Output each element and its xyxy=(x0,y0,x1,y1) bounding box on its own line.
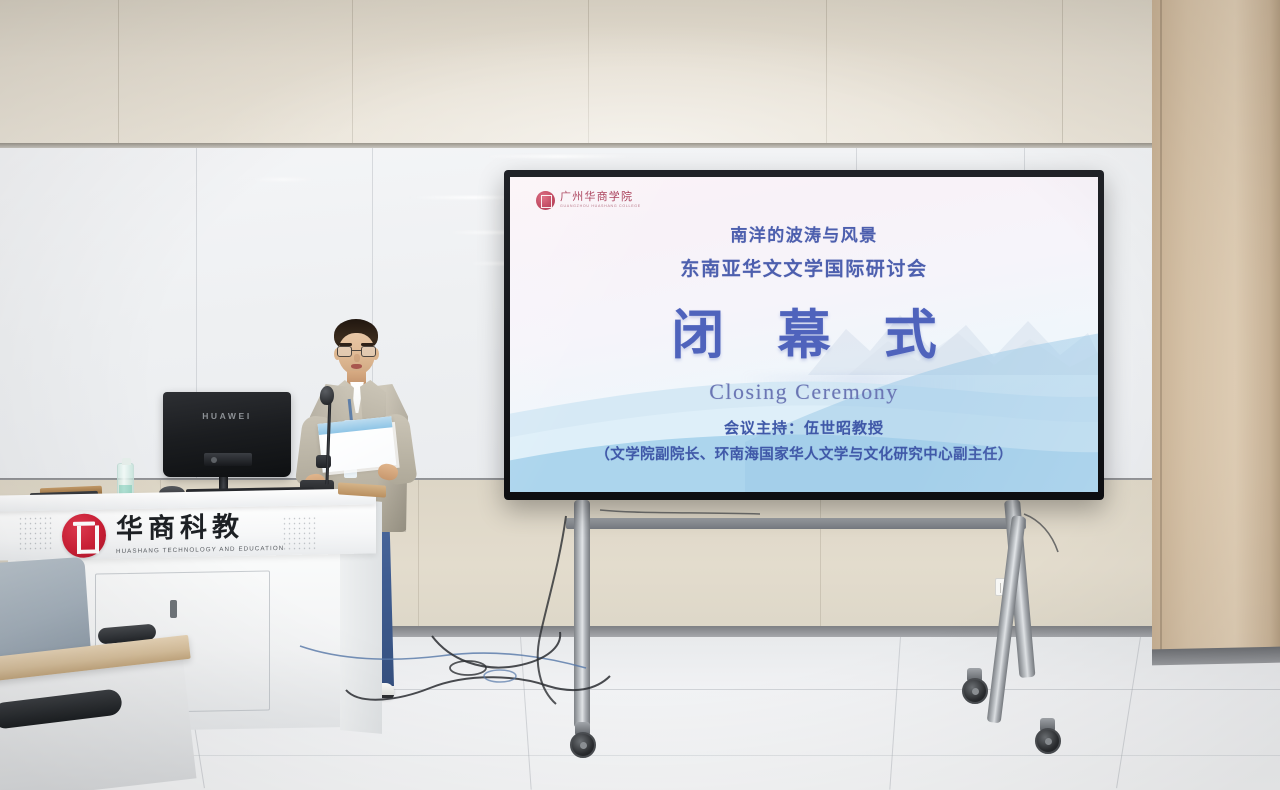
presentation-slide: 广州华商学院 GUANGZHOU HUASHANG COLLEGE 南洋的波涛与… xyxy=(510,177,1098,492)
display-screen[interactable]: 广州华商学院 GUANGZHOU HUASHANG COLLEGE 南洋的波涛与… xyxy=(504,170,1104,500)
huashang-seal-icon xyxy=(62,513,106,558)
tv-cart-caster xyxy=(962,678,988,704)
monitor-connector-hub xyxy=(204,453,252,466)
podium-brand-plate: 华商科教 HUASHANG TECHNOLOGY AND EDUCATION xyxy=(62,510,284,558)
slide-logo-en: GUANGZHOU HUASHANG COLLEGE xyxy=(560,205,641,209)
tv-cart-caster xyxy=(570,732,596,758)
slide-university-logo: 广州华商学院 GUANGZHOU HUASHANG COLLEGE xyxy=(536,191,641,210)
podium-brand-cn: 华商科教 xyxy=(116,512,284,542)
podium-speaker-grille-left xyxy=(18,516,52,553)
slide-host-role: （文学院副院长、环南海国家华人文学与文化研究中心副主任） xyxy=(510,443,1098,464)
pilaster-edge xyxy=(1160,0,1162,660)
slide-title-line1: 南洋的波涛与风景 xyxy=(510,221,1098,246)
upper-wall-sheen xyxy=(0,0,1280,148)
podium-cabinet-lock xyxy=(170,600,177,618)
tv-cart-caster xyxy=(1035,728,1061,754)
slide-headline-english: Closing Ceremony xyxy=(510,379,1098,405)
slide-headline: 闭 幕 式 xyxy=(510,293,1098,369)
tv-cart-leg-left xyxy=(574,500,590,728)
conference-room-photo: 广州华商学院 GUANGZHOU HUASHANG COLLEGE 南洋的波涛与… xyxy=(0,0,1280,790)
light-reflection-streak xyxy=(252,178,314,181)
presenter-mouth xyxy=(351,364,362,369)
wall-pilaster xyxy=(1152,0,1280,660)
slide-logo-cn: 广州华商学院 xyxy=(560,192,641,203)
light-reflection-streak xyxy=(482,155,634,158)
pilaster-baseboard xyxy=(1152,647,1280,666)
podium-speaker-grille-right xyxy=(282,516,316,553)
huawei-monitor: HUAWEI xyxy=(163,392,291,477)
presenter-glasses xyxy=(337,346,376,357)
podium-brand-en: HUASHANG TECHNOLOGY AND EDUCATION xyxy=(116,544,284,554)
monitor-brand-label: HUAWEI xyxy=(163,411,291,421)
slide-title-line2: 东南亚华文文学国际研讨会 xyxy=(510,254,1098,281)
university-seal-icon xyxy=(536,191,555,210)
tv-cart-crossbar xyxy=(566,518,1026,529)
slide-host-line: 会议主持：伍世昭教授 xyxy=(510,417,1098,438)
